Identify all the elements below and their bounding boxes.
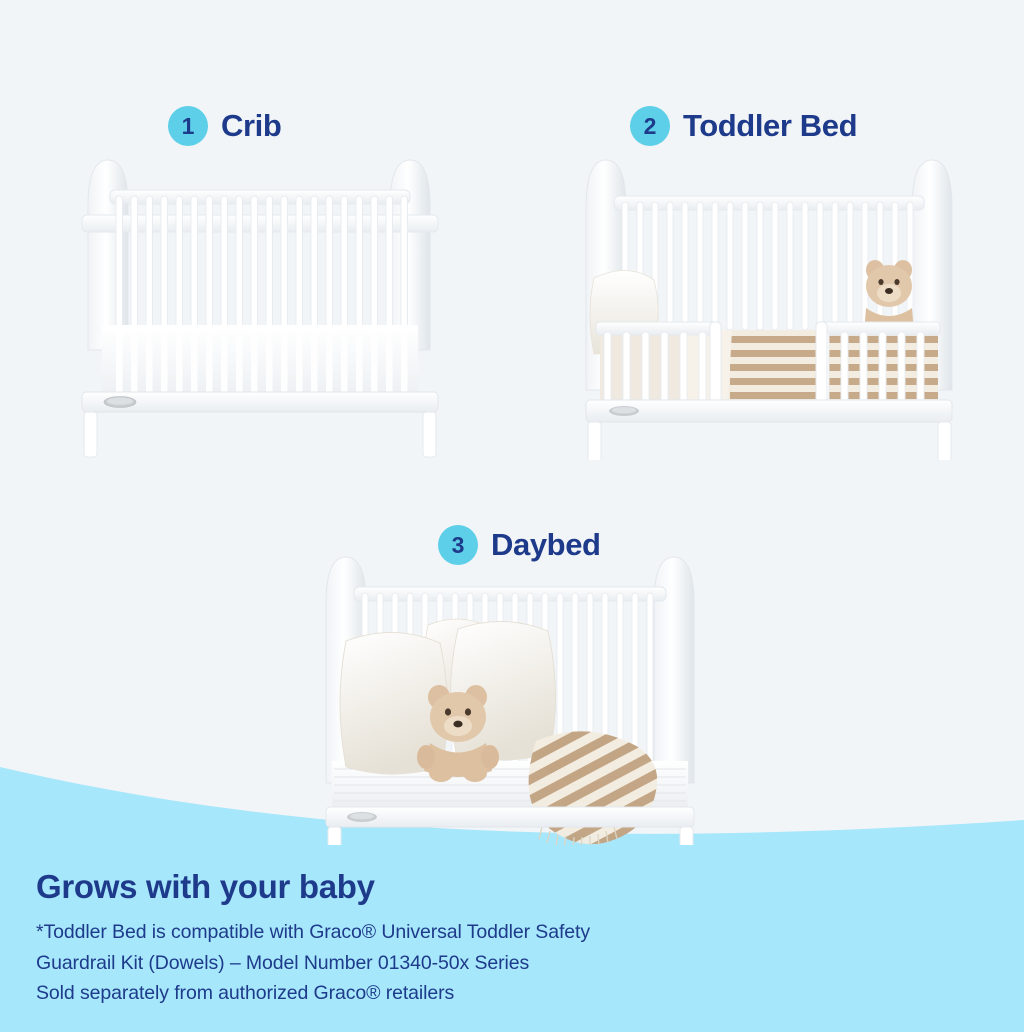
footnote-text-1: *Toddler Bed is compatible with Graco® U… [36,921,590,943]
step-badge-1: 1 [168,106,208,146]
banner-footnote-line-2: Guardrail Kit (Dowels) – Model Number 01… [36,948,836,978]
banner-footnote-line-3: Sold separately from authorized Graco® r… [36,978,836,1008]
step-title-2: Toddler Bed [683,108,857,144]
step-label-3: 3 Daybed [438,525,601,565]
step-badge-3: 3 [438,525,478,565]
toddler-bed-illustration [570,140,970,460]
banner-heading: Grows with your baby [36,869,836,905]
crib-illustration [60,140,460,470]
step-title-3: Daybed [491,527,601,563]
banner-footnote-line-1: *Toddler Bed is compatible with Graco® U… [36,917,836,947]
daybed-illustration [310,545,710,845]
step-badge-2: 2 [630,106,670,146]
footnote-text-2: Guardrail Kit (Dowels) – Model Number 01… [36,952,529,974]
step-label-1: 1 Crib [168,106,281,146]
footnote-text-3: Sold separately from authorized Graco® r… [36,982,454,1004]
infographic-page: 1 Crib 2 Toddler Bed 3 Daybed Grows with… [0,0,1024,1032]
banner-text-block: Grows with your baby *Toddler Bed is com… [36,869,836,1008]
step-title-1: Crib [221,108,281,144]
step-label-2: 2 Toddler Bed [630,106,857,146]
